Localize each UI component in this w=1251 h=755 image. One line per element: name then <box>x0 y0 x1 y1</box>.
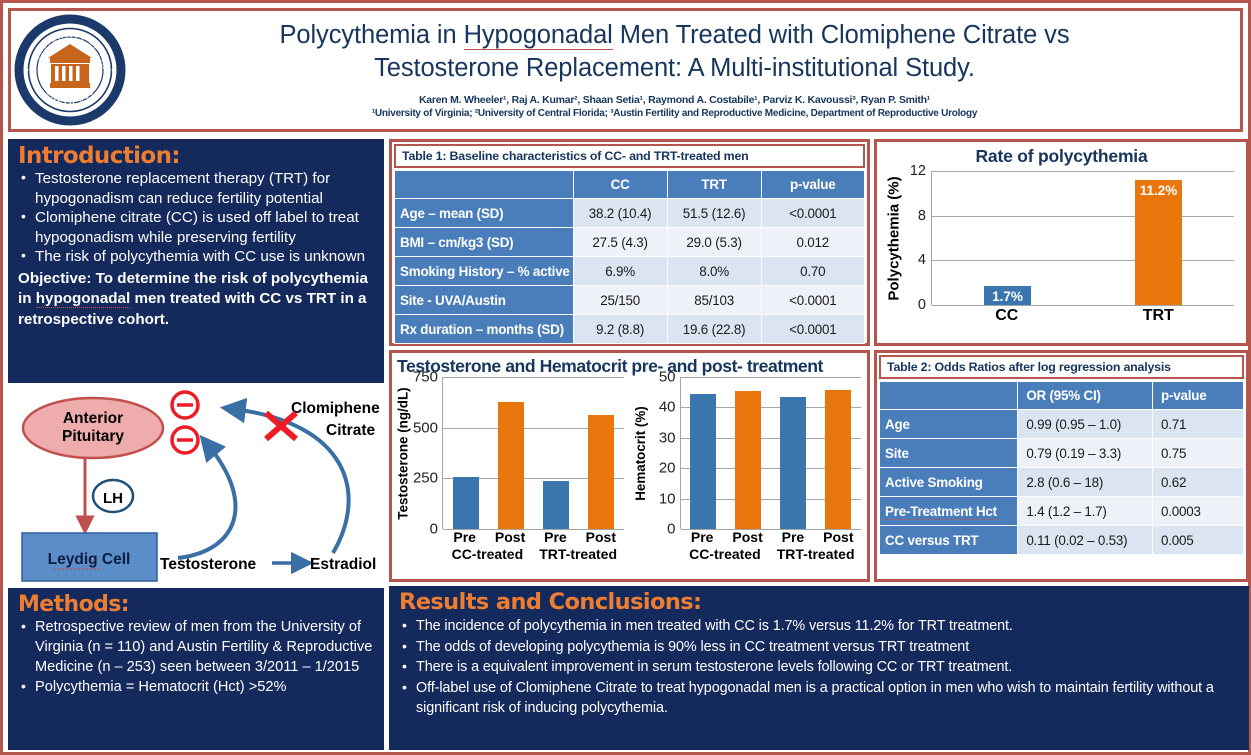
diagram-label-estradiol: Estradiol <box>310 556 376 573</box>
bar-pre-cc <box>453 477 479 529</box>
table-header-row: OR (95% CI) p-value <box>880 382 1244 410</box>
row-label: Pre-Treatment Hct <box>880 497 1018 526</box>
table1-panel: Table 1: Baseline characteristics of CC-… <box>389 139 870 346</box>
methods-panel: Methods: Retrospective review of men fro… <box>8 588 384 750</box>
poster-title-line-1: Polycythemia in Hypogonadal Men Treated … <box>129 19 1220 52</box>
rate-of-polycythemia-chart-panel: Rate of polycythemia Polycythemia (%) 12… <box>874 139 1249 346</box>
objective-statement: Objective: To determine the risk of poly… <box>18 269 376 331</box>
column-header-trt: TRT <box>667 171 761 199</box>
hpg-axis-diagram: Anterior Pituitary LH Leydig Ce <box>8 383 384 588</box>
bar-slot-post-cc <box>726 377 771 529</box>
svg-text:Pituitary: Pituitary <box>62 428 124 445</box>
bar-trt: 11.2% <box>1135 180 1182 305</box>
y-tick: 0 <box>430 521 438 538</box>
column-header-blank <box>395 171 574 199</box>
cell-trt: 29.0 (5.3) <box>667 228 761 257</box>
bar-post-cc <box>735 391 761 529</box>
cell-pvalue: 0.62 <box>1152 468 1243 497</box>
row-label: BMI – cm/kg3 (SD) <box>395 228 574 257</box>
x-tick: Post <box>578 529 623 545</box>
diagram-label-anterior-pituitary: Anterior <box>63 410 123 427</box>
table-row: Rx duration – months (SD) 9.2 (8.8) 19.6… <box>395 315 865 344</box>
table-row: Smoking History – % active 6.9% 8.0% 0.7… <box>395 257 865 286</box>
rate-chart-body: Polycythemia (%) 12 8 4 0 1.7% <box>881 171 1238 331</box>
bar-cc: 1.7% <box>984 286 1031 305</box>
list-item: Retrospective review of men from the Uni… <box>18 617 378 677</box>
x-tick: Pre <box>770 529 815 545</box>
introduction-heading: Introduction: <box>18 143 376 169</box>
cell-cc: 9.2 (8.8) <box>573 315 667 344</box>
title-block: Polycythemia in Hypogonadal Men Treated … <box>129 19 1240 121</box>
hematocrit-plot-area <box>680 377 862 529</box>
bar-pre-trt <box>543 481 569 529</box>
rate-plot-area: 1.7% 11.2% <box>931 171 1234 305</box>
bar-value-label: 11.2% <box>1135 183 1182 198</box>
testosterone-chart: Testosterone (ng/dL) 750 500 250 0 <box>392 377 630 569</box>
bar-post-cc <box>498 402 524 529</box>
bar-slot-post-trt <box>578 377 623 529</box>
x-tick: Pre <box>442 529 487 545</box>
column-header-blank <box>880 382 1018 410</box>
cell-trt: 19.6 (22.8) <box>667 315 761 344</box>
table-row: Active Smoking 2.8 (0.6 – 18) 0.62 <box>880 468 1244 497</box>
y-tick: 10 <box>659 490 676 507</box>
introduction-panel: Introduction: Testosterone replacement t… <box>8 139 384 383</box>
table2: OR (95% CI) p-value Age 0.99 (0.95 – 1.0… <box>879 381 1244 555</box>
y-tick: 12 <box>910 163 926 179</box>
inhibition-icon-1 <box>172 392 198 418</box>
methods-heading: Methods: <box>18 592 378 617</box>
y-axis-ticks: 12 8 4 0 <box>903 171 929 305</box>
cell-trt: 51.5 (12.6) <box>667 199 761 228</box>
list-item: Clomiphene citrate (CC) is used off labe… <box>18 208 376 247</box>
cell-cc: 27.5 (4.3) <box>573 228 667 257</box>
bar-value-label: 1.7% <box>984 289 1031 304</box>
x-tick-row: Pre Post Pre Post <box>680 529 862 545</box>
poster-header: UNIVERSITY OF VIRGINIA HEALTH SYSTEM Pol… <box>8 8 1243 132</box>
y-axis-ticks: 50 40 30 20 10 0 <box>648 377 678 529</box>
cell-cc: 6.9% <box>573 257 667 286</box>
y-tick: 30 <box>659 429 676 446</box>
table2-caption: Table 2: Odds Ratios after log regressio… <box>879 355 1244 379</box>
objective-part-hypogonadal: hypogonadal <box>36 290 131 308</box>
cell-pvalue: 0.0003 <box>1152 497 1243 526</box>
x-tick-cc: CC <box>931 305 1083 331</box>
y-axis-ticks: 750 500 250 0 <box>410 377 440 529</box>
x-group-label: TRT-treated <box>533 546 624 562</box>
y-tick: 50 <box>659 369 676 386</box>
cell-pvalue: 0.012 <box>761 228 864 257</box>
table1-caption: Table 1: Baseline characteristics of CC-… <box>394 144 865 168</box>
bar-slot-pre-cc <box>443 377 488 529</box>
results-bullet-list: The incidence of polycythemia in men tre… <box>399 616 1241 719</box>
y-tick: 0 <box>918 297 926 313</box>
table-row: Age 0.99 (0.95 – 1.0) 0.71 <box>880 410 1244 439</box>
row-label: Site - UVA/Austin <box>395 286 574 315</box>
list-item: There is a equivalent improvement in ser… <box>399 657 1241 678</box>
poster-canvas: UNIVERSITY OF VIRGINIA HEALTH SYSTEM Pol… <box>0 0 1251 755</box>
svg-text:Citrate: Citrate <box>326 422 375 439</box>
affiliation-list: ¹University of Virginia; ²University of … <box>129 107 1220 121</box>
list-item: Polycythemia = Hematocrit (Hct) >52% <box>18 677 378 697</box>
bar-slot-trt: 11.2% <box>1083 171 1234 305</box>
y-tick: 750 <box>413 369 438 386</box>
x-tick: Post <box>725 529 770 545</box>
inhibition-icon-2 <box>172 427 198 453</box>
bar-post-trt <box>825 390 851 529</box>
y-tick: 250 <box>413 470 438 487</box>
cell-pvalue: <0.0001 <box>761 315 864 344</box>
cell-pvalue: 0.75 <box>1152 439 1243 468</box>
bar-post-trt <box>588 415 614 529</box>
title-part-hypogonadal: Hypogonadal <box>464 21 613 50</box>
table-row: Site - UVA/Austin 25/150 85/103 <0.0001 <box>395 286 865 315</box>
chart-row: Testosterone (ng/dL) 750 500 250 0 <box>392 377 867 569</box>
row-label: Rx duration – months (SD) <box>395 315 574 344</box>
rate-bars: 1.7% 11.2% <box>932 171 1234 305</box>
y-tick: 20 <box>659 460 676 477</box>
column-header-pvalue: p-value <box>761 171 864 199</box>
table-row: CC versus TRT 0.11 (0.02 – 0.53) 0.005 <box>880 526 1244 555</box>
x-group-row: CC-treated TRT-treated <box>680 546 862 562</box>
bar-slot-post-trt <box>816 377 861 529</box>
cell-or: 0.79 (0.19 – 3.3) <box>1018 439 1153 468</box>
table-row: Pre-Treatment Hct 1.4 (1.2 – 1.7) 0.0003 <box>880 497 1244 526</box>
cell-pvalue: 0.70 <box>761 257 864 286</box>
y-tick: 4 <box>918 252 926 268</box>
bar-slot-cc: 1.7% <box>932 171 1083 305</box>
testosterone-plot-area <box>442 377 624 529</box>
introduction-bullet-list: Testosterone replacement therapy (TRT) f… <box>18 169 376 267</box>
cell-or: 0.11 (0.02 – 0.53) <box>1018 526 1153 555</box>
title-part-a: Polycythemia in <box>280 21 464 49</box>
diagram-label-leydig-cell: Leydig Cell <box>48 551 131 568</box>
cell-trt: 85/103 <box>667 286 761 315</box>
results-heading: Results and Conclusions: <box>399 589 1241 616</box>
y-tick: 500 <box>413 419 438 436</box>
row-label: Age – mean (SD) <box>395 199 574 228</box>
table-header-row: CC TRT p-value <box>395 171 865 199</box>
row-label: Active Smoking <box>880 468 1018 497</box>
table2-panel: Table 2: Odds Ratios after log regressio… <box>874 350 1249 582</box>
diagram-label-clomiphene: Clomiphene <box>291 400 380 417</box>
bar-pre-trt <box>780 397 806 529</box>
bar-slot-pre-trt <box>533 377 578 529</box>
author-list: Karen M. Wheeler¹, Raj A. Kumar², Shaan … <box>129 93 1220 107</box>
results-and-conclusions-panel: Results and Conclusions: The incidence o… <box>389 586 1249 750</box>
cell-pvalue: 0.71 <box>1152 410 1243 439</box>
column-header-cc: CC <box>573 171 667 199</box>
y-tick: 40 <box>659 399 676 416</box>
cell-pvalue: <0.0001 <box>761 286 864 315</box>
list-item: Off-label use of Clomiphene Citrate to t… <box>399 678 1241 719</box>
list-item: The odds of developing polycythemia is 9… <box>399 637 1241 658</box>
hematocrit-bars <box>681 377 862 529</box>
chart-title: Testosterone and Hematocrit pre- and pos… <box>392 353 867 377</box>
table-row: Age – mean (SD) 38.2 (10.4) 51.5 (12.6) … <box>395 199 865 228</box>
y-axis-label: Polycythemia (%) <box>883 171 905 305</box>
bar-slot-post-cc <box>488 377 533 529</box>
title-part-c: Men Treated with Clomiphene Citrate vs <box>613 21 1070 49</box>
cell-or: 1.4 (1.2 – 1.7) <box>1018 497 1153 526</box>
list-item: The risk of polycythemia with CC use is … <box>18 247 376 267</box>
x-tick-trt: TRT <box>1083 305 1235 331</box>
cell-trt: 8.0% <box>667 257 761 286</box>
cell-pvalue: 0.005 <box>1152 526 1243 555</box>
table-row: BMI – cm/kg3 (SD) 27.5 (4.3) 29.0 (5.3) … <box>395 228 865 257</box>
y-tick: 8 <box>918 208 926 224</box>
list-item: The incidence of polycythemia in men tre… <box>399 616 1241 637</box>
bar-slot-pre-cc <box>681 377 726 529</box>
x-group-label: CC-treated <box>442 546 533 562</box>
x-tick: Post <box>816 529 861 545</box>
testosterone-hematocrit-chart-panel: Testosterone and Hematocrit pre- and pos… <box>389 350 870 582</box>
column-header-or: OR (95% CI) <box>1018 382 1153 410</box>
chart-title: Rate of polycythemia <box>877 142 1246 167</box>
x-group-row: CC-treated TRT-treated <box>442 546 624 562</box>
cell-pvalue: <0.0001 <box>761 199 864 228</box>
row-label: Smoking History – % active <box>395 257 574 286</box>
x-tick: Pre <box>533 529 578 545</box>
diagram-label-testosterone: Testosterone <box>160 556 257 573</box>
left-column: Introduction: Testosterone replacement t… <box>8 139 384 750</box>
row-label: Site <box>880 439 1018 468</box>
row-label: CC versus TRT <box>880 526 1018 555</box>
diagram-label-lh: LH <box>103 490 123 507</box>
y-tick: 0 <box>667 521 675 538</box>
table-row: Site 0.79 (0.19 – 3.3) 0.75 <box>880 439 1244 468</box>
cell-or: 0.99 (0.95 – 1.0) <box>1018 410 1153 439</box>
uva-health-system-logo-icon: UNIVERSITY OF VIRGINIA HEALTH SYSTEM <box>11 11 129 129</box>
bar-pre-cc <box>690 394 716 529</box>
x-tick-row: Pre Post Pre Post <box>442 529 624 545</box>
x-group-label: TRT-treated <box>770 546 861 562</box>
cell-cc: 38.2 (10.4) <box>573 199 667 228</box>
bar-slot-pre-trt <box>771 377 816 529</box>
cell-or: 2.8 (0.6 – 18) <box>1018 468 1153 497</box>
x-group-label: CC-treated <box>680 546 771 562</box>
testosterone-x-axis: Pre Post Pre Post CC-treated TRT-treated <box>442 529 624 569</box>
testosterone-bars <box>443 377 624 529</box>
x-tick: Pre <box>680 529 725 545</box>
rate-x-axis: CC TRT <box>931 305 1234 331</box>
methods-bullet-list: Retrospective review of men from the Uni… <box>18 617 378 697</box>
table1: CC TRT p-value Age – mean (SD) 38.2 (10.… <box>394 170 865 344</box>
list-item: Testosterone replacement therapy (TRT) f… <box>18 169 376 208</box>
row-label: Age <box>880 410 1018 439</box>
cell-cc: 25/150 <box>573 286 667 315</box>
hematocrit-x-axis: Pre Post Pre Post CC-treated TRT-treated <box>680 529 862 569</box>
x-tick: Post <box>487 529 532 545</box>
poster-title-line-2: Testosterone Replacement: A Multi-instit… <box>129 52 1220 85</box>
hematocrit-chart: Hematocrit (%) 50 40 30 20 10 0 <box>630 377 868 569</box>
column-header-pvalue: p-value <box>1152 382 1243 410</box>
